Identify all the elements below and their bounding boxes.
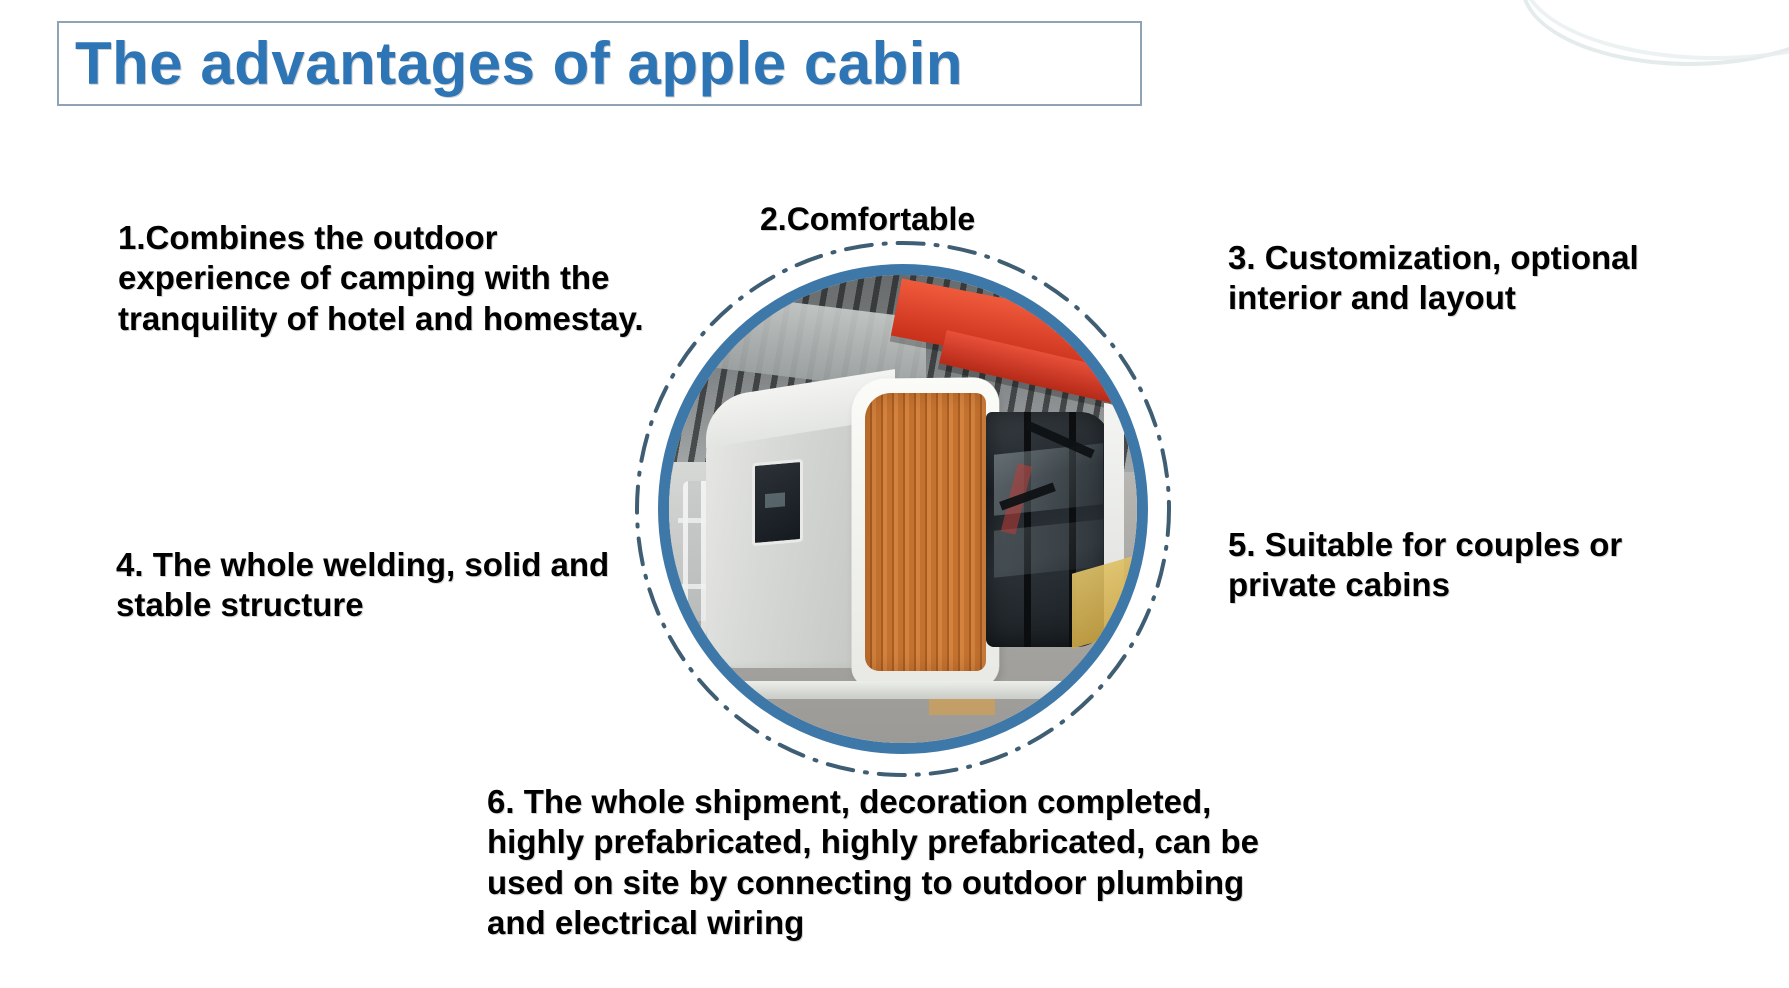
cabin-side-window xyxy=(752,459,803,547)
cabin-base-plinth xyxy=(715,681,1110,700)
page-title: The advantages of apple cabin xyxy=(75,29,963,98)
cabin-wood-slat-cladding xyxy=(865,393,986,671)
advantage-item-1: 1.Combines the outdoor experience of cam… xyxy=(118,218,658,339)
advantage-item-5: 5. Suitable for couples or private cabin… xyxy=(1228,525,1698,606)
advantage-item-6: 6. The whole shipment, decoration comple… xyxy=(487,782,1307,943)
wooden-pallet xyxy=(929,699,995,714)
advantage-item-2: 2.Comfortable xyxy=(760,200,1080,239)
title-box: The advantages of apple cabin xyxy=(57,21,1142,106)
cabin-photo-container xyxy=(630,236,1176,782)
slide-canvas: The advantages of apple cabin 1.Combines… xyxy=(0,0,1789,988)
workshop-scene xyxy=(669,275,1137,743)
cabin-photo xyxy=(669,275,1137,743)
advantage-item-4: 4. The whole welding, solid and stable s… xyxy=(116,545,616,626)
advantage-item-3: 3. Customization, optional interior and … xyxy=(1228,238,1698,319)
apple-cabin-unit xyxy=(706,378,1118,687)
